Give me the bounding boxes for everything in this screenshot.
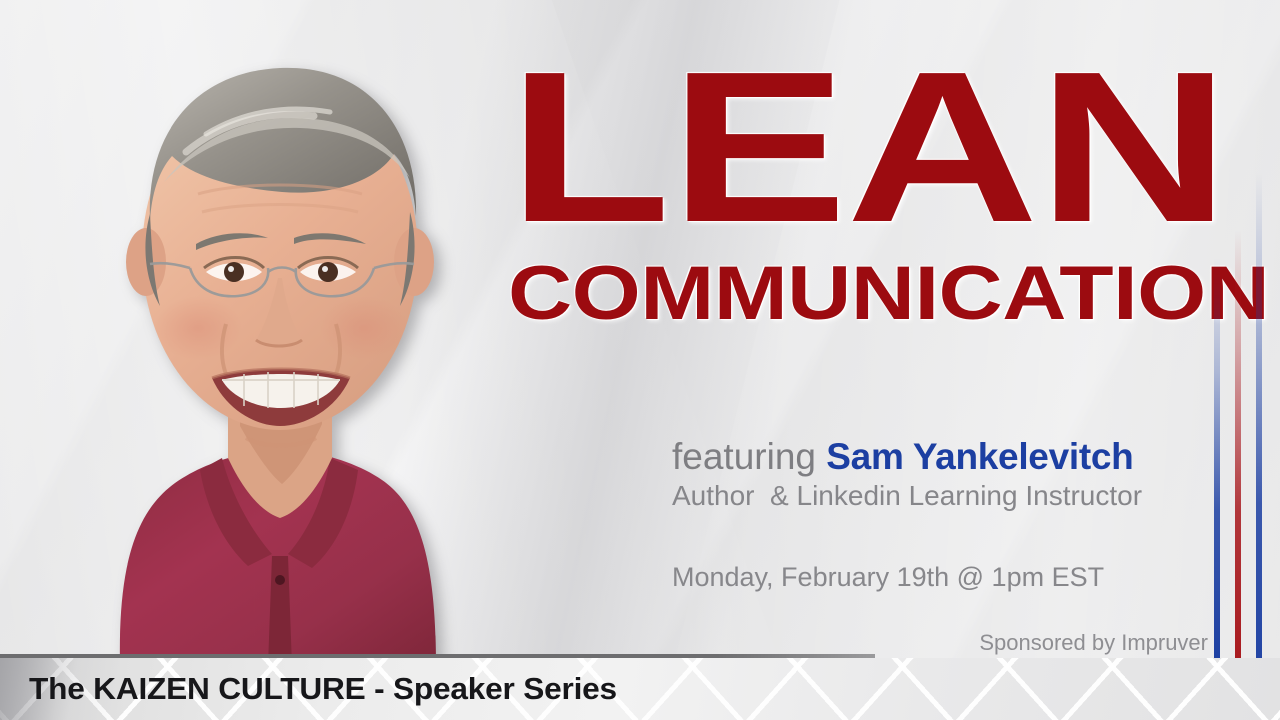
speaker-role: Author & Linkedin Learning Instructor <box>672 479 1232 513</box>
webinar-promo-banner: LEAN COMMUNICATION featuring Sam Yankele… <box>0 0 1280 720</box>
speaker-name: Sam Yankelevitch <box>826 436 1133 477</box>
headline-secondary: COMMUNICATION <box>508 256 1280 332</box>
featuring-prefix: featuring <box>672 436 826 477</box>
series-banner: The KAIZEN CULTURE - Speaker Series <box>0 658 1280 720</box>
series-title: The KAIZEN CULTURE - Speaker Series <box>29 671 617 707</box>
event-datetime: Monday, February 19th @ 1pm EST <box>672 561 1232 593</box>
speaker-info-group: featuring Sam Yankelevitch Author & Link… <box>672 437 1232 594</box>
featuring-line: featuring Sam Yankelevitch <box>672 437 1232 477</box>
headline-primary: LEAN <box>508 46 1280 248</box>
headline-group: LEAN COMMUNICATION <box>508 46 1208 332</box>
speaker-portrait <box>0 6 470 666</box>
sponsor-text: Sponsored by Impruver <box>979 630 1208 656</box>
